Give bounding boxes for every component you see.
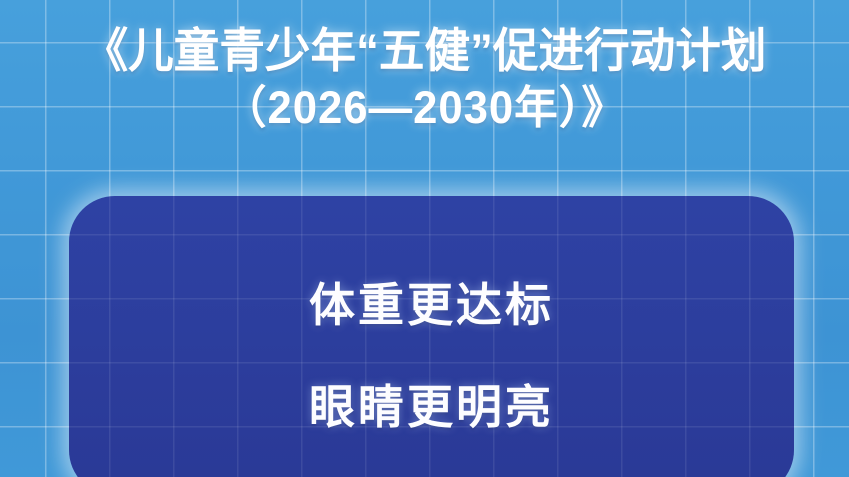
highlight-card: 体重更达标 眼睛更明亮 (69, 196, 794, 477)
title-line-2: （2026—2030年）》 (13, 80, 837, 135)
title-line-1: 《儿童青少年“五健”促进行动计划 (13, 22, 837, 80)
card-text-block: 体重更达标 眼睛更明亮 (69, 282, 794, 430)
poster-canvas: 《儿童青少年“五健”促进行动计划 （2026—2030年）》 体重更达标 眼睛更… (0, 0, 849, 477)
poster-title: 《儿童青少年“五健”促进行动计划 （2026—2030年）》 (0, 22, 849, 135)
card-line-2: 眼睛更明亮 (69, 384, 794, 430)
card-line-1: 体重更达标 (69, 282, 794, 328)
